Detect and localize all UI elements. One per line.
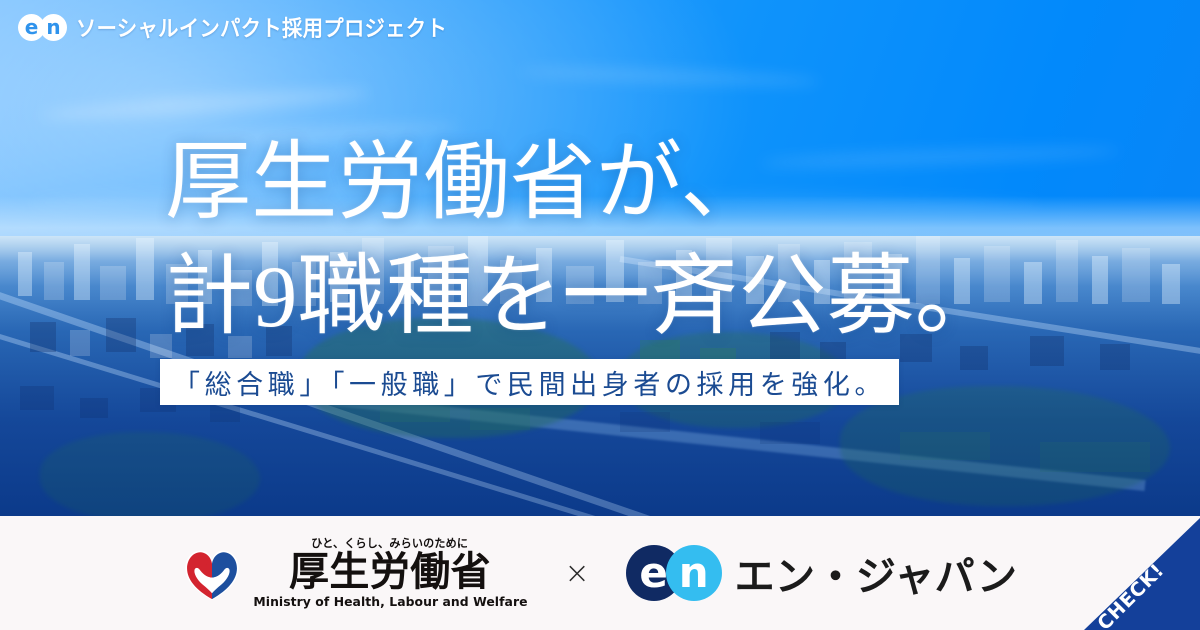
subtitle-bar: 「総合職」「一般職」で民間出身者の採用を強化。 xyxy=(160,359,899,405)
hero-background: 厚生労働省が、 計9職種を一斉公募。 「総合職」「一般職」で民間出身者の採用を強… xyxy=(0,0,1200,516)
mhlw-emblem-icon xyxy=(183,544,241,602)
mhlw-logo: ひと、くらし、みらいのために 厚生労働省 Ministry of Health,… xyxy=(183,538,529,609)
subtitle-text: 「総合職」「一般職」で民間出身者の採用を強化。 xyxy=(173,363,886,402)
en-japan-name: エン・ジャパン xyxy=(735,544,1018,602)
en-japan-logo: e n エン・ジャパン xyxy=(626,544,1018,602)
en-japan-mark-icon: e n xyxy=(626,545,722,601)
project-label: ソーシャルインパクト採用プロジェクト xyxy=(76,11,447,43)
mhlw-name-en: Ministry of Health, Labour and Welfare xyxy=(253,596,527,609)
en-japan-n-letter: n xyxy=(666,545,722,601)
headline-line-2: 計9職種を一斉公募。 xyxy=(165,240,1065,356)
logo-separator-x-icon: × xyxy=(565,556,590,591)
project-header: e n ソーシャルインパクト採用プロジェクト xyxy=(18,11,479,43)
en-logo-icon: e n xyxy=(18,14,67,41)
en-logo-n-letter: n xyxy=(40,14,67,41)
mhlw-wordmark: ひと、くらし、みらいのために 厚生労働省 Ministry of Health,… xyxy=(252,538,529,609)
headline-line-1: 厚生労働省が、 xyxy=(165,124,1065,240)
mhlw-tagline: ひと、くらし、みらいのために xyxy=(312,538,469,550)
footer-logos: ひと、くらし、みらいのために 厚生労働省 Ministry of Health,… xyxy=(0,516,1200,630)
promotional-banner: 厚生労働省が、 計9職種を一斉公募。 「総合職」「一般職」で民間出身者の採用を強… xyxy=(0,0,1200,630)
hero-headline: 厚生労働省が、 計9職種を一斉公募。 xyxy=(165,124,1065,356)
mhlw-name-ja: 厚生労働省 xyxy=(289,552,491,592)
check-corner-ribbon[interactable]: CHECK! xyxy=(1084,518,1200,630)
